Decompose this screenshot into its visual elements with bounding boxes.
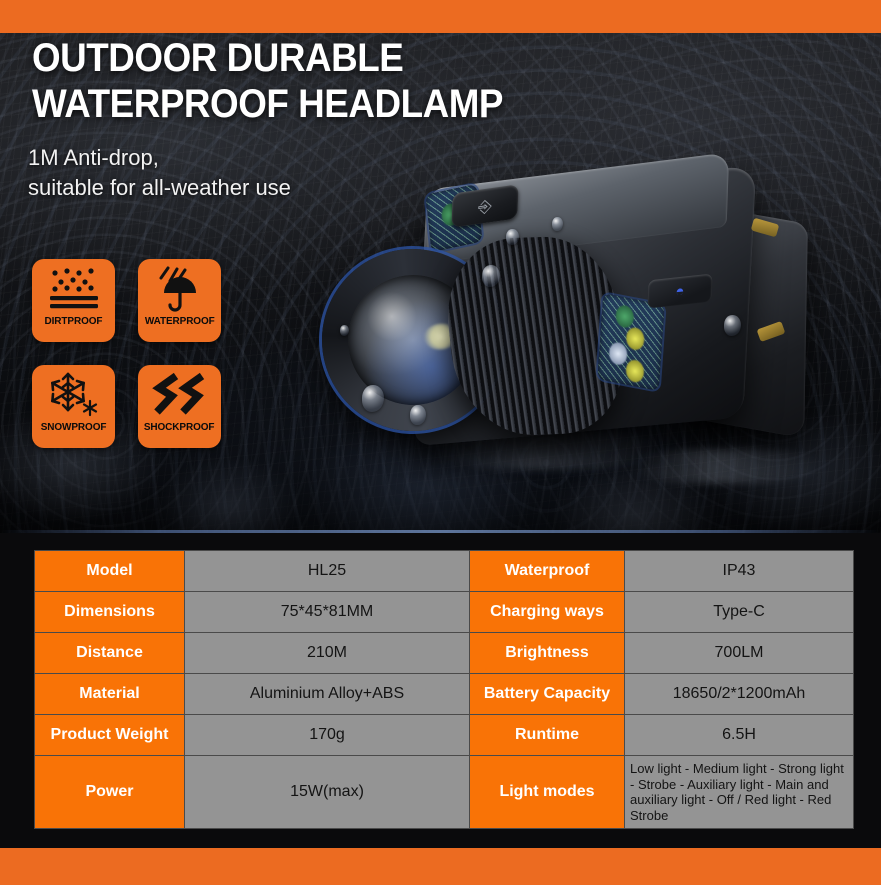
umbrella-rain-icon [138, 259, 221, 315]
feature-badge-dirtproof: DIRTPROOF [32, 259, 115, 342]
page-subtitle: 1M Anti-drop, suitable for all-weather u… [28, 143, 448, 203]
table-row: Dimensions 75*45*81MM Charging ways Type… [35, 592, 854, 633]
spec-value: 170g [185, 715, 470, 756]
led-dot [615, 304, 634, 329]
feature-badge-label: SNOWPROOF [41, 421, 107, 433]
bottom-accent-bar [0, 848, 881, 885]
spec-key: Charging ways [470, 592, 625, 633]
spec-value: Type-C [625, 592, 854, 633]
table-row: Distance 210M Brightness 700LM [35, 633, 854, 674]
shock-zigzag-icon [138, 365, 221, 421]
table-row: Power 15W(max) Light modes Low light - M… [35, 756, 854, 829]
feature-badge-row: SNOWPROOF SHOCKPROOF [32, 365, 232, 448]
spec-key: Runtime [470, 715, 625, 756]
spec-key: Brightness [470, 633, 625, 674]
page-title: OUTDOOR DURABLE WATERPROOF HEADLAMP [32, 35, 584, 127]
spec-key: Waterproof [470, 551, 625, 592]
product-led-panel-right [597, 293, 664, 391]
spec-value: 18650/2*1200mAh [625, 674, 854, 715]
table-row: Model HL25 Waterproof IP43 [35, 551, 854, 592]
spec-value: Aluminium Alloy+ABS [185, 674, 470, 715]
feature-badge-label: DIRTPROOF [45, 315, 103, 327]
feature-badge-shockproof: SHOCKPROOF [138, 365, 221, 448]
spec-value: 75*45*81MM [185, 592, 470, 633]
feature-badge-waterproof: WATERPROOF [138, 259, 221, 342]
spec-key: Distance [35, 633, 185, 674]
spec-value-light-modes: Low light - Medium light - Strong light … [625, 756, 854, 829]
feature-badge-label: WATERPROOF [145, 315, 215, 327]
spec-key: Model [35, 551, 185, 592]
spec-key: Product Weight [35, 715, 185, 756]
spec-value: HL25 [185, 551, 470, 592]
led-dot [626, 326, 645, 351]
specification-table: Model HL25 Waterproof IP43 Dimensions 75… [34, 550, 853, 828]
spec-value: IP43 [625, 551, 854, 592]
table-row: Material Aluminium Alloy+ABS Battery Cap… [35, 674, 854, 715]
feature-badge-row: DIRTPROOF WA [32, 259, 232, 342]
spec-value: 15W(max) [185, 756, 470, 829]
led-dot [625, 358, 644, 383]
feature-badge-label: SHOCKPROOF [144, 421, 215, 433]
feature-badge-snowproof: SNOWPROOF [32, 365, 115, 448]
spec-key: Power [35, 756, 185, 829]
spec-value: 6.5H [625, 715, 854, 756]
top-accent-bar [0, 0, 881, 33]
table-row: Product Weight 170g Runtime 6.5H [35, 715, 854, 756]
product-marketing-page: ⎆ ◓ OUTDOOR DURABLE WATERPROOF HEADLAMP … [0, 0, 881, 885]
led-dot [608, 341, 627, 366]
hero-banner: ⎆ ◓ OUTDOOR DURABLE WATERPROOF HEADLAMP … [0, 33, 881, 533]
dirt-particles-icon [32, 259, 115, 315]
feature-badge-grid: DIRTPROOF WA [32, 259, 232, 471]
motion-blur-streak [630, 449, 820, 483]
snowflake-icon [32, 365, 115, 421]
spec-value: 700LM [625, 633, 854, 674]
spec-key: Battery Capacity [470, 674, 625, 715]
spec-key: Material [35, 674, 185, 715]
hero-divider-line [0, 530, 881, 533]
spec-value: 210M [185, 633, 470, 674]
spec-key: Light modes [470, 756, 625, 829]
spec-key: Dimensions [35, 592, 185, 633]
